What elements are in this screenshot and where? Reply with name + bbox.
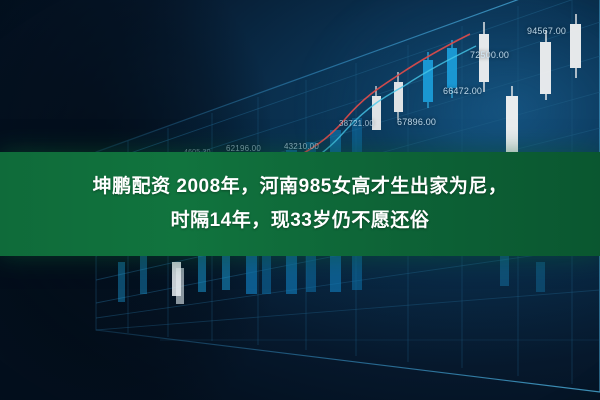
price-label-38721: 38721.00	[339, 119, 374, 128]
price-label-67896: 67896.00	[397, 117, 436, 127]
headline-line-1: 坤鹏配资 2008年，河南985女高才生出家为尼，	[93, 170, 508, 204]
price-label-94567: 94567.00	[527, 26, 566, 36]
promo-image: 94567.00 72500.00 66472.00 67896.00 3872…	[0, 0, 600, 400]
headline-band: 坤鹏配资 2008年，河南985女高才生出家为尼， 时隔14年，现33岁仍不愿还…	[0, 152, 600, 256]
price-label-66472: 66472.00	[443, 86, 482, 96]
price-label-72500: 72500.00	[470, 50, 509, 60]
price-label-43210: 43210.00	[284, 142, 319, 151]
headline-line-2: 时隔14年，现33岁仍不愿还俗	[171, 204, 430, 238]
